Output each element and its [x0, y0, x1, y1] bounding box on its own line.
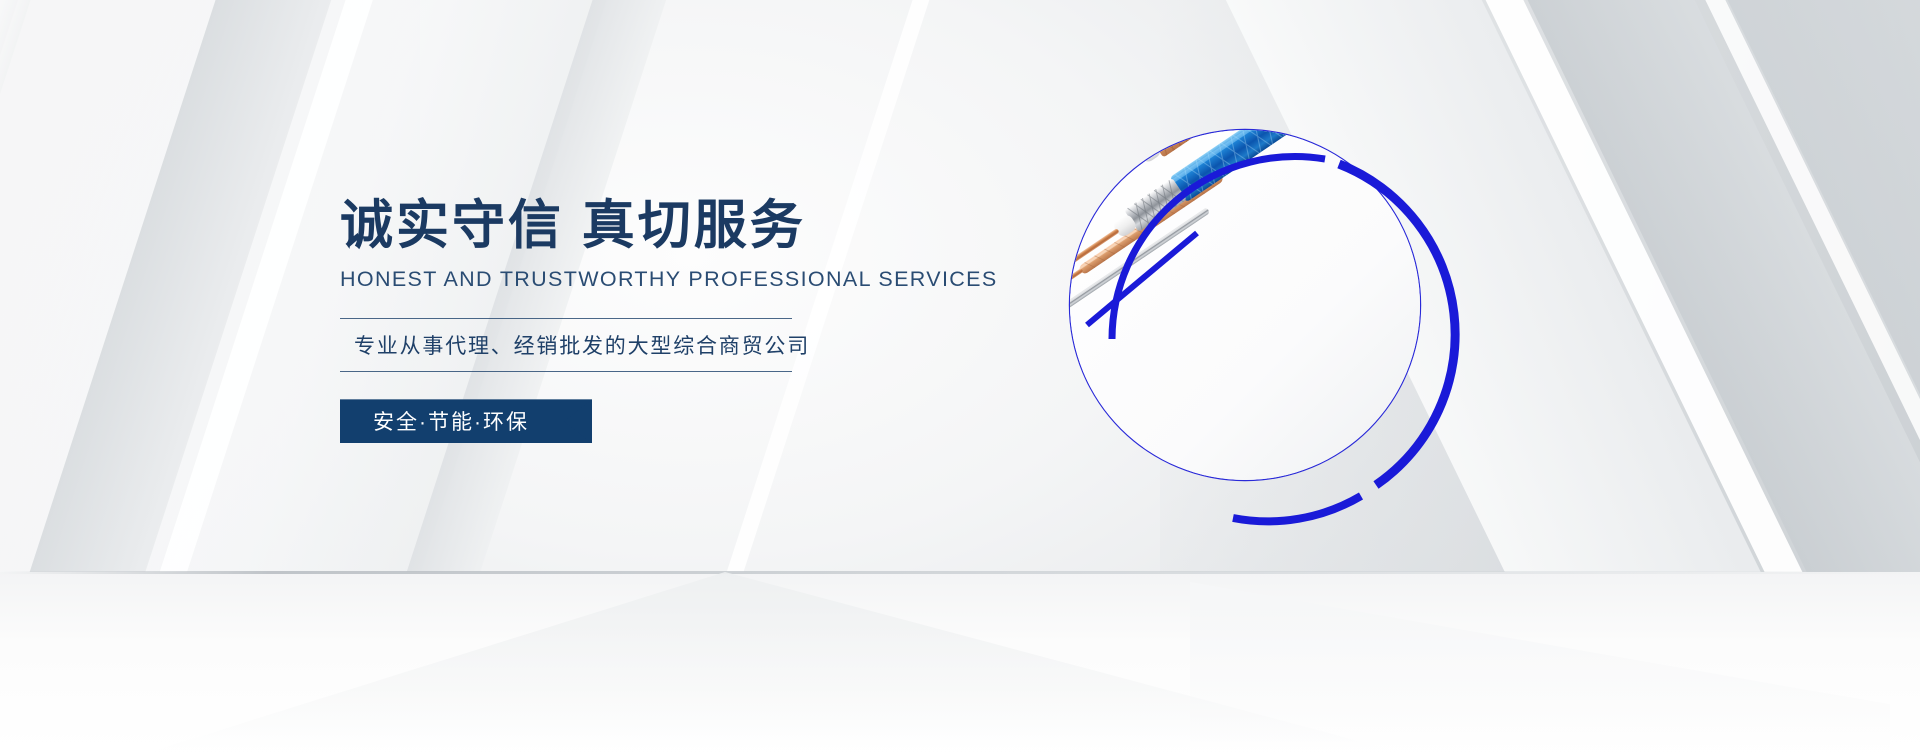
blue-accent-stroke-icon [1065, 125, 1485, 545]
divider-top [340, 318, 792, 319]
hero-banner: 诚实守信 真切服务 HONEST AND TRUSTWORTHY PROFESS… [0, 0, 1920, 752]
background-floor-edge [0, 571, 1920, 574]
feature-tag-label: 安全·节能·环保 [340, 406, 529, 436]
page-title: 诚实守信 真切服务 [340, 196, 880, 256]
description-chinese: 专业从事代理、经销批发的大型综合商贸公司 [340, 319, 880, 371]
divider-bottom [340, 371, 792, 372]
background-graphics [0, 0, 1920, 752]
product-circle-graphic [1065, 125, 1485, 545]
subtitle-english: HONEST AND TRUSTWORTHY PROFESSIONAL SERV… [340, 267, 880, 292]
feature-tag-ribbon-shape: 安全·节能·环保 [340, 399, 592, 443]
hero-text-block: 诚实守信 真切服务 HONEST AND TRUSTWORTHY PROFESS… [340, 196, 880, 443]
feature-tag-ribbon: 安全·节能·环保 [340, 399, 592, 443]
